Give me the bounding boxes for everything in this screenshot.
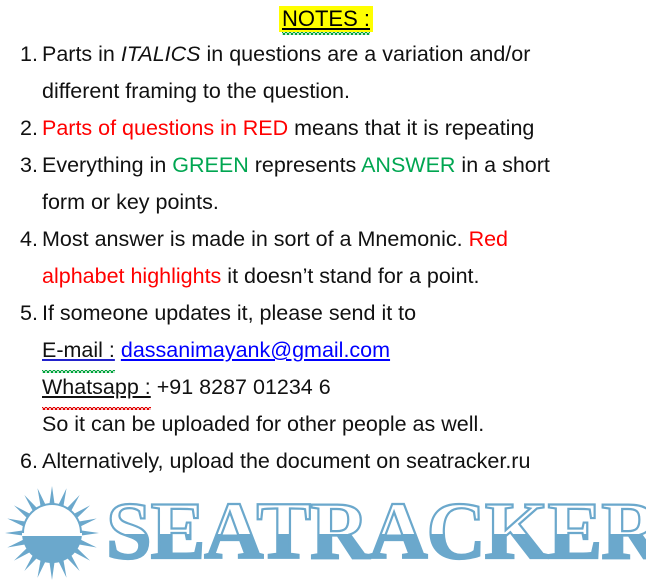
whatsapp-label: Whatsapp : bbox=[42, 375, 151, 399]
list-item: 5. If someone updates it, please send it… bbox=[0, 295, 652, 443]
text-segment: in a short bbox=[455, 153, 549, 177]
text-segment: it doesn’t stand for a point. bbox=[221, 264, 479, 288]
list-item-line: Everything in GREEN represents ANSWER in… bbox=[42, 147, 652, 184]
list-item-number: 3. bbox=[20, 147, 44, 184]
list-item-line: Parts in ITALICS in questions are a vari… bbox=[42, 36, 652, 73]
svg-text:SEATRACKER.RU: SEATRACKER.RU bbox=[106, 488, 646, 576]
text-segment-red: Red bbox=[469, 227, 508, 251]
text-segment-italic: ITALICS bbox=[121, 42, 201, 66]
text-segment: Alternatively, upload the document on se… bbox=[42, 449, 530, 473]
list-item-number: 2. bbox=[20, 110, 44, 147]
list-item: 3. Everything in GREEN represents ANSWER… bbox=[0, 147, 652, 221]
text-segment: Parts in bbox=[42, 42, 121, 66]
email-line: E-mail : dassanimayank@gmail.com bbox=[42, 332, 652, 369]
list-item-line: If someone updates it, please send it to bbox=[42, 295, 652, 332]
text-segment: means that it is repeating bbox=[288, 116, 534, 140]
spellcheck-squiggle-icon bbox=[42, 407, 151, 410]
watermark: SEATRACKER.RU bbox=[0, 483, 652, 583]
text-segment: represents bbox=[249, 153, 361, 177]
watermark-text: SEATRACKER.RU bbox=[106, 488, 652, 578]
list-item-number: 1. bbox=[20, 36, 44, 73]
text-segment: form or key points. bbox=[42, 190, 219, 214]
list-item-line: Parts of questions in RED means that it … bbox=[42, 110, 652, 147]
list-item-number: 5. bbox=[20, 295, 44, 332]
spellcheck-squiggle-icon bbox=[282, 32, 370, 35]
list-item-line: different framing to the question. bbox=[42, 73, 652, 110]
email-label-wrap: E-mail : bbox=[42, 332, 115, 369]
text-segment: Most answer is made in sort of a Mnemoni… bbox=[42, 227, 469, 251]
list-item-number: 4. bbox=[20, 221, 44, 258]
notes-title-row: NOTES : bbox=[0, 0, 652, 36]
list-item: 4. Most answer is made in sort of a Mnem… bbox=[0, 221, 652, 295]
page-title: NOTES : bbox=[279, 6, 373, 32]
page-title-text: NOTES : bbox=[282, 6, 370, 31]
list-item-line: form or key points. bbox=[42, 184, 652, 221]
whatsapp-number: +91 8287 01234 6 bbox=[157, 375, 331, 399]
text-segment-green: ANSWER bbox=[361, 153, 455, 177]
whatsapp-label-wrap: Whatsapp : bbox=[42, 369, 151, 406]
list-item-line: Alternatively, upload the document on se… bbox=[42, 443, 652, 480]
text-segment-red: alphabet highlights bbox=[42, 264, 221, 288]
list-item: 2. Parts of questions in RED means that … bbox=[0, 110, 652, 147]
list-item: 6. Alternatively, upload the document on… bbox=[0, 443, 652, 480]
text-segment: in questions are a variation and/or bbox=[201, 42, 531, 66]
whatsapp-line: Whatsapp : +91 8287 01234 6 bbox=[42, 369, 652, 406]
list-item-number: 6. bbox=[20, 443, 44, 480]
list-item-line: Most answer is made in sort of a Mnemoni… bbox=[42, 221, 652, 258]
sun-logo-icon bbox=[2, 485, 102, 581]
notes-list: 1. Parts in ITALICS in questions are a v… bbox=[0, 36, 652, 480]
text-segment: Everything in bbox=[42, 153, 172, 177]
text-segment: If someone updates it, please send it to bbox=[42, 301, 416, 325]
text-segment-green: GREEN bbox=[172, 153, 248, 177]
text-segment-red: Parts of questions in RED bbox=[42, 116, 288, 140]
closing-line: So it can be uploaded for other people a… bbox=[42, 406, 652, 443]
text-segment: different framing to the question. bbox=[42, 79, 350, 103]
email-link[interactable]: dassanimayank@gmail.com bbox=[121, 338, 390, 362]
list-item: 1. Parts in ITALICS in questions are a v… bbox=[0, 36, 652, 110]
email-label: E-mail : bbox=[42, 338, 115, 362]
list-item-line: alphabet highlights it doesn’t stand for… bbox=[42, 258, 652, 295]
